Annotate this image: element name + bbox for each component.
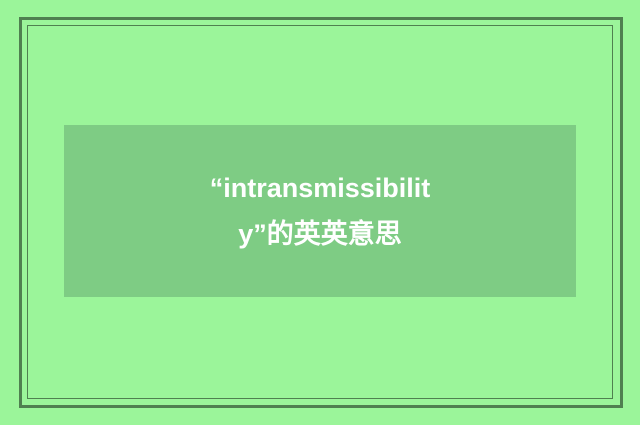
title-card: “intransmissibility”的英英意思 [64, 125, 576, 297]
page-title: “intransmissibility”的英英意思 [192, 165, 448, 257]
poster-canvas: “intransmissibility”的英英意思 [0, 0, 640, 425]
